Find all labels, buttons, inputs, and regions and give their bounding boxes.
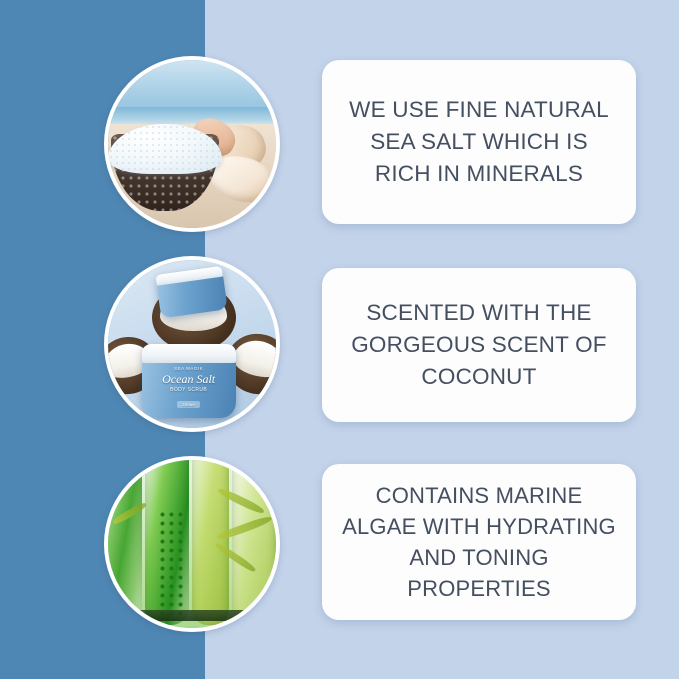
jar-lid xyxy=(142,344,236,363)
jar-subtitle-text: BODY SCRUB xyxy=(142,387,236,393)
jar-brand-text: SEA MAGIK xyxy=(142,366,236,371)
feature-image-marine-algae xyxy=(104,456,280,632)
marine-algae-scene xyxy=(108,460,276,628)
coconut-flesh xyxy=(230,336,280,382)
feature-card-text: SCENTED WITH THE GORGEOUS SCENT OF COCON… xyxy=(340,297,618,393)
feature-card-text: CONTAINS MARINE ALGAE WITH HYDRATING AND… xyxy=(340,480,618,605)
feature-card-sea-salt: WE USE FINE NATURAL SEA SALT WHICH IS RI… xyxy=(322,60,636,224)
feature-image-coconut-scent: SEA MAGIK Ocean Salt BODY SCRUB 200ml xyxy=(104,256,280,432)
jar-title-text: Ocean Salt xyxy=(142,373,236,386)
test-tube xyxy=(192,460,229,625)
feature-card-text: WE USE FINE NATURAL SEA SALT WHICH IS RI… xyxy=(340,94,618,190)
algae-strand xyxy=(158,510,185,614)
tube-base xyxy=(108,610,276,622)
feature-card-marine-algae: CONTAINS MARINE ALGAE WITH HYDRATING AND… xyxy=(322,464,636,620)
product-jar-scene: SEA MAGIK Ocean Salt BODY SCRUB 200ml xyxy=(108,260,276,428)
feature-card-coconut-scent: SCENTED WITH THE GORGEOUS SCENT OF COCON… xyxy=(322,268,636,422)
test-tube xyxy=(108,460,142,625)
jar-size-text: 200ml xyxy=(177,401,199,408)
test-tube xyxy=(232,460,276,625)
feature-image-sea-salt xyxy=(104,56,280,232)
product-benefits-infographic: SEA MAGIK Ocean Salt BODY SCRUB 200ml WE… xyxy=(0,0,679,679)
jar-lid xyxy=(156,266,224,287)
sea-salt-scene xyxy=(108,60,276,228)
product-jar-label: SEA MAGIK Ocean Salt BODY SCRUB 200ml xyxy=(142,366,236,411)
product-jar-front: SEA MAGIK Ocean Salt BODY SCRUB 200ml xyxy=(142,344,236,418)
